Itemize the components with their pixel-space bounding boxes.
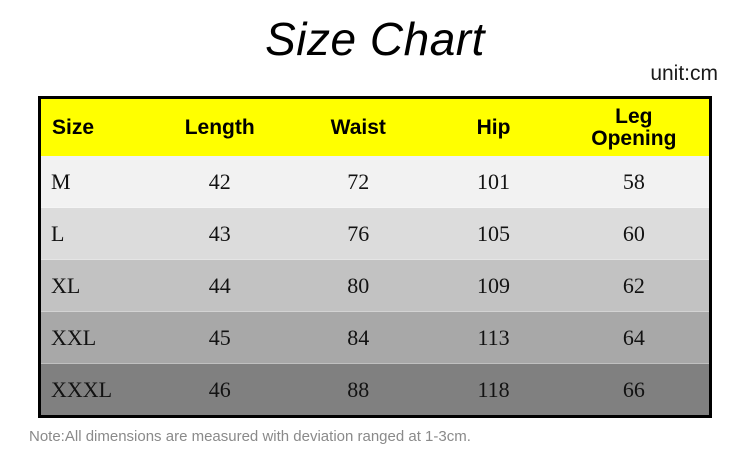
- measurement-note: Note:All dimensions are measured with de…: [29, 428, 471, 446]
- cell-length: 43: [151, 208, 288, 260]
- column-header-length: Length: [151, 99, 288, 156]
- table-header: Size Length Waist Hip Leg Opening: [41, 99, 709, 156]
- cell-leg-opening: 66: [559, 364, 709, 416]
- cell-size: XL: [41, 260, 151, 312]
- table-header-row: Size Length Waist Hip Leg Opening: [41, 99, 709, 156]
- cell-waist: 84: [288, 312, 428, 364]
- column-header-waist: Waist: [288, 99, 428, 156]
- page-title: Size Chart: [0, 13, 750, 65]
- cell-waist: 88: [288, 364, 428, 416]
- column-header-leg-opening-line1: Leg: [559, 106, 709, 128]
- cell-leg-opening: 60: [559, 208, 709, 260]
- cell-size: XXL: [41, 312, 151, 364]
- cell-length: 44: [151, 260, 288, 312]
- cell-size: XXXL: [41, 364, 151, 416]
- column-header-leg-opening-line2: Opening: [559, 128, 709, 150]
- column-header-hip: Hip: [428, 99, 558, 156]
- table-row: XXL 45 84 113 64: [41, 312, 709, 364]
- cell-hip: 105: [428, 208, 558, 260]
- cell-size: M: [41, 156, 151, 208]
- size-table: Size Length Waist Hip Leg Opening M 42 7…: [41, 99, 709, 415]
- cell-waist: 72: [288, 156, 428, 208]
- cell-hip: 101: [428, 156, 558, 208]
- table-body: M 42 72 101 58 L 43 76 105 60 XL 44 80: [41, 156, 709, 415]
- cell-hip: 109: [428, 260, 558, 312]
- unit-label: unit:cm: [650, 62, 718, 86]
- size-table-container: Size Length Waist Hip Leg Opening M 42 7…: [38, 96, 712, 418]
- cell-length: 45: [151, 312, 288, 364]
- cell-length: 42: [151, 156, 288, 208]
- cell-waist: 76: [288, 208, 428, 260]
- cell-leg-opening: 64: [559, 312, 709, 364]
- table-row: XXXL 46 88 118 66: [41, 364, 709, 416]
- column-header-size: Size: [41, 99, 151, 156]
- column-header-leg-opening: Leg Opening: [559, 99, 709, 156]
- cell-size: L: [41, 208, 151, 260]
- table-row: L 43 76 105 60: [41, 208, 709, 260]
- cell-hip: 113: [428, 312, 558, 364]
- table-row: M 42 72 101 58: [41, 156, 709, 208]
- cell-hip: 118: [428, 364, 558, 416]
- cell-leg-opening: 62: [559, 260, 709, 312]
- table-row: XL 44 80 109 62: [41, 260, 709, 312]
- cell-waist: 80: [288, 260, 428, 312]
- cell-leg-opening: 58: [559, 156, 709, 208]
- size-chart-page: Size Chart unit:cm Size Length Waist Hip…: [0, 0, 750, 468]
- cell-length: 46: [151, 364, 288, 416]
